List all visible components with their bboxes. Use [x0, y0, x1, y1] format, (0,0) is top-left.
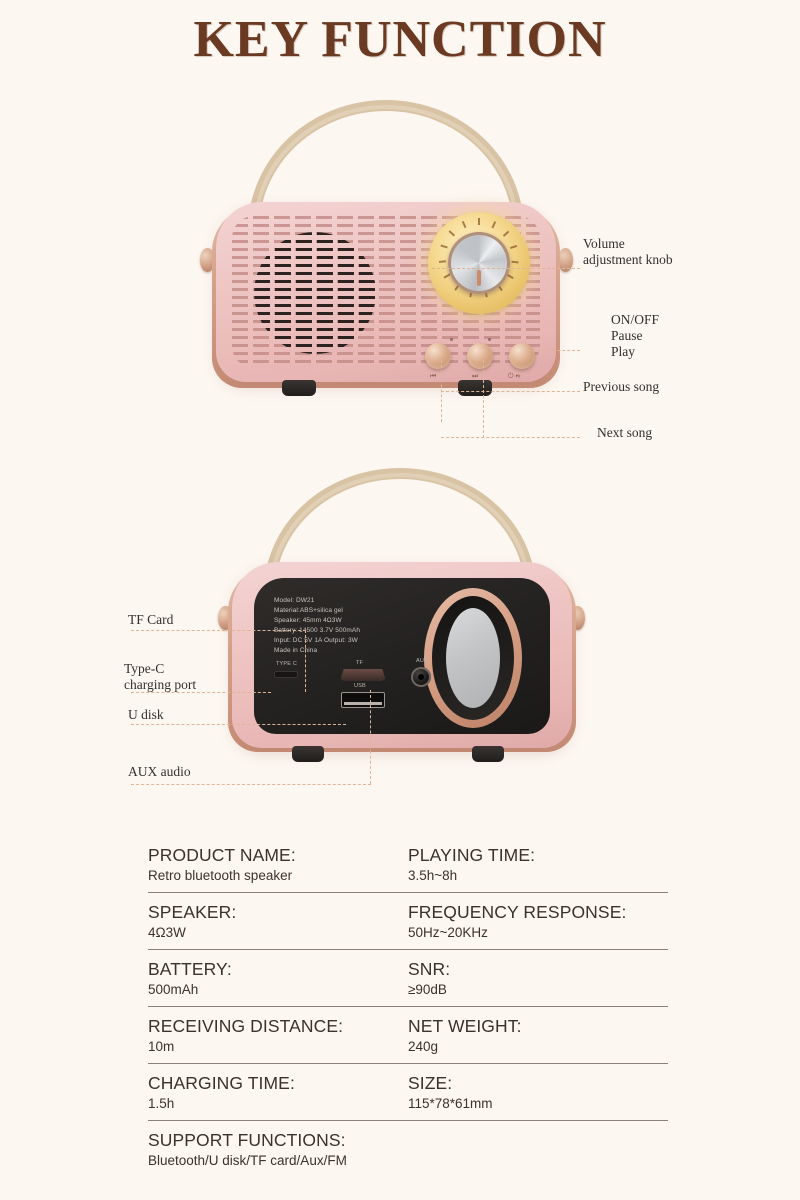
spec-value: 115*78*61mm: [408, 1096, 668, 1111]
connector-previous: [441, 391, 580, 392]
spec-value: 500mAh: [148, 982, 408, 997]
table-row: BATTERY: 500mAh SNR: ≥90dB: [148, 949, 668, 1006]
spec-value: Retro bluetooth speaker: [148, 868, 408, 883]
callout-volume-adjustment-knob: Volume adjustment knob: [583, 236, 673, 268]
spec-key: SPEAKER:: [148, 902, 408, 923]
spec-key: PLAYING TIME:: [408, 845, 668, 866]
tf-card-slot[interactable]: [340, 669, 386, 681]
aux-jack[interactable]: [411, 667, 431, 687]
spec-cell: BATTERY: 500mAh: [148, 959, 408, 997]
spec-value: 4Ω3W: [148, 925, 408, 940]
usb-port-label: USB: [354, 683, 366, 689]
spec-cell: PLAYING TIME: 3.5h~8h: [408, 845, 668, 883]
spec-key: SUPPORT FUNCTIONS:: [148, 1130, 668, 1151]
indicator-dot-left: [450, 338, 453, 341]
callout-previous-song: Previous song: [583, 379, 659, 395]
table-row: SPEAKER: 4Ω3W FREQUENCY RESPONSE: 50Hz~2…: [148, 892, 668, 949]
spec-key: CHARGING TIME:: [148, 1073, 408, 1094]
spec-value: 1.5h: [148, 1096, 408, 1111]
spec-cell: SPEAKER: 4Ω3W: [148, 902, 408, 940]
spec-value: 10m: [148, 1039, 408, 1054]
callout-next-song: Next song: [597, 425, 652, 441]
table-row: CHARGING TIME: 1.5h SIZE: 115*78*61mm: [148, 1063, 668, 1120]
spec-value: Bluetooth/U disk/TF card/Aux/FM: [148, 1153, 668, 1168]
callout-type-c-charging-port: Type-C charging port: [124, 661, 196, 693]
power-play-button[interactable]: [509, 343, 535, 369]
connector-tf-card-vertical: [305, 630, 306, 692]
spec-key: SNR:: [408, 959, 668, 980]
spec-cell: RECEIVING DISTANCE: 10m: [148, 1016, 408, 1054]
connector-u-disk: [131, 724, 346, 725]
next-button[interactable]: [467, 343, 493, 369]
connector-aux: [131, 784, 371, 785]
volume-knob[interactable]: [428, 212, 530, 314]
power-play-icon: ⏻ ⏯: [508, 372, 520, 381]
product-infographic: KEY FUNCTION: [0, 0, 800, 1200]
spec-cell: SIZE: 115*78*61mm: [408, 1073, 668, 1111]
specification-table: PRODUCT NAME: Retro bluetooth speaker PL…: [148, 836, 668, 1177]
indicator-dot-right: [488, 338, 491, 341]
spec-key: RECEIVING DISTANCE:: [148, 1016, 408, 1037]
table-row: PRODUCT NAME: Retro bluetooth speaker PL…: [148, 836, 668, 892]
spec-cell: SUPPORT FUNCTIONS: Bluetooth/U disk/TF c…: [148, 1130, 668, 1168]
table-row: SUPPORT FUNCTIONS: Bluetooth/U disk/TF c…: [148, 1120, 668, 1177]
spec-value: 240g: [408, 1039, 668, 1054]
usb-port[interactable]: [341, 692, 385, 708]
connector-next: [441, 437, 580, 438]
connector-next-vertical: [483, 360, 484, 438]
connector-power: [528, 350, 580, 351]
spec-value: 3.5h~8h: [408, 868, 668, 883]
callout-power-pause-play: ON/OFF Pause Play: [611, 312, 659, 360]
aux-port-label: AUX: [416, 658, 428, 664]
type-c-port[interactable]: [274, 671, 298, 678]
type-c-port-label: TYPE C: [276, 661, 297, 667]
spec-key: FREQUENCY RESPONSE:: [408, 902, 668, 923]
spec-cell: SNR: ≥90dB: [408, 959, 668, 997]
spec-value: ≥90dB: [408, 982, 668, 997]
callout-aux-audio: AUX audio: [128, 764, 191, 780]
callout-tf-card: TF Card: [128, 612, 173, 628]
front-foot-right: [458, 380, 492, 396]
back-view-speaker: Model: DW21 Material:ABS+silica gel Spea…: [216, 468, 586, 788]
previous-icon: ⏮: [430, 372, 436, 381]
spec-key: NET WEIGHT:: [408, 1016, 668, 1037]
tf-port-label: TF: [356, 660, 363, 666]
volume-knob-face[interactable]: [448, 232, 510, 294]
spec-key: SIZE:: [408, 1073, 668, 1094]
connector-aux-vertical: [370, 690, 371, 784]
spec-value: 50Hz~20KHz: [408, 925, 668, 940]
spec-key: BATTERY:: [148, 959, 408, 980]
spec-key: PRODUCT NAME:: [148, 845, 408, 866]
table-row: RECEIVING DISTANCE: 10m NET WEIGHT: 240g: [148, 1006, 668, 1063]
callout-u-disk: U disk: [128, 707, 164, 723]
back-foot-right: [472, 746, 504, 762]
spec-cell: FREQUENCY RESPONSE: 50Hz~20KHz: [408, 902, 668, 940]
spec-cell: NET WEIGHT: 240g: [408, 1016, 668, 1054]
spec-cell: CHARGING TIME: 1.5h: [148, 1073, 408, 1111]
knob-pointer: [477, 270, 481, 286]
connector-volume: [432, 268, 580, 269]
front-foot-left: [282, 380, 316, 396]
front-view-speaker: ⏮ ⏭ ⏻ ⏯: [196, 100, 576, 430]
speaker-driver: [254, 232, 376, 354]
back-foot-left: [292, 746, 324, 762]
page-title: KEY FUNCTION: [0, 10, 800, 69]
connector-tf-card: [131, 630, 306, 631]
spec-cell: PRODUCT NAME: Retro bluetooth speaker: [148, 845, 408, 883]
previous-button[interactable]: [425, 343, 451, 369]
passive-radiator-core: [446, 608, 500, 708]
